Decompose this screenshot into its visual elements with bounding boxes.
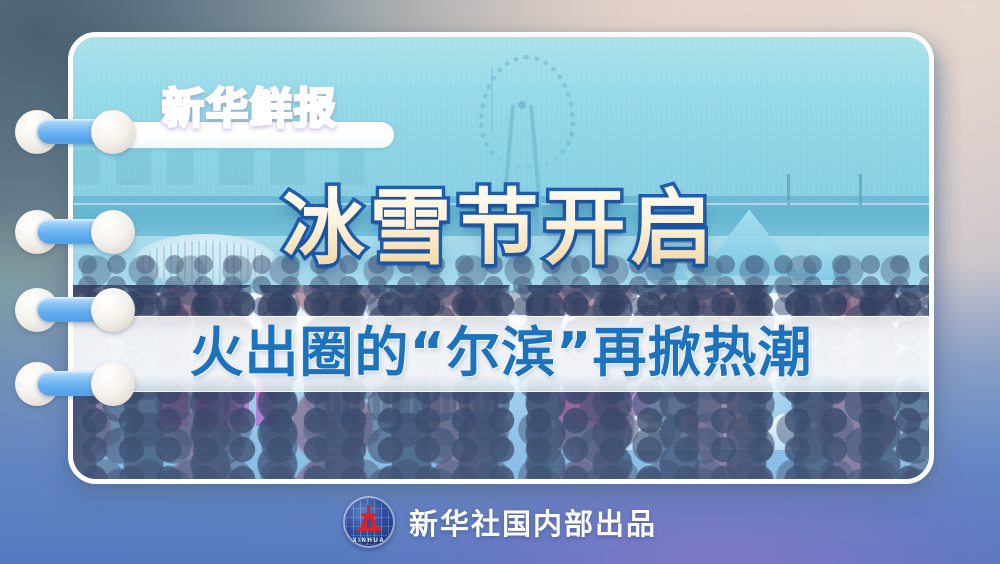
poster-stage: 新华鲜报 冰雪节开启 冰雪节开启 火出圈的“尔滨”再掀热潮 [0,0,1000,564]
spiral-ring-icon-1 [15,110,135,154]
logo-tower-base [357,527,381,531]
logo-tower-cap [362,513,375,517]
footer: XINHUA 新华社国内部出品 [0,494,1000,550]
ring-disc-right [91,110,135,154]
brand-badge: 新华鲜报 [104,114,394,148]
footer-attribution: 新华社国内部出品 [409,501,657,543]
spiral-ring-icon-3 [15,288,135,332]
logo-tower-glyph [357,505,381,531]
spiral-ring-icon-2 [15,210,135,254]
ring-disc-right [91,362,135,406]
brand-badge-label: 新华鲜报 [132,88,368,130]
spiral-ring-icon-4 [15,362,135,406]
logo-wordmark: XINHUA [343,538,395,544]
main-title: 冰雪节开启 [0,188,1000,270]
subtitle-text: 火出圈的“尔滨”再掀热潮 [73,322,929,384]
xinhua-logo-icon: XINHUA [343,496,395,548]
ring-disc-right [91,210,135,254]
ring-disc-right [91,288,135,332]
